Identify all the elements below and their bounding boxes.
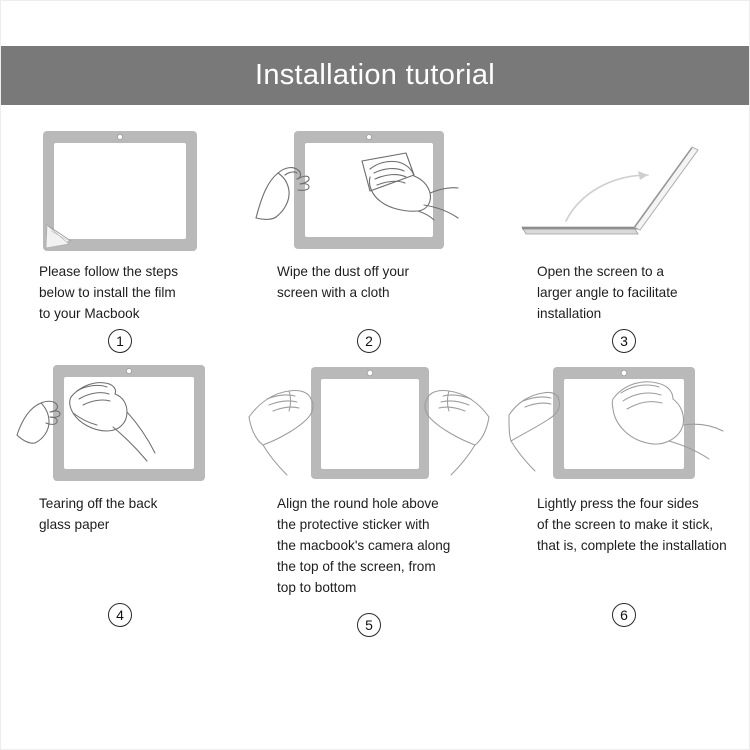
step-number-badge: 6 <box>612 603 636 627</box>
step-number-badge: 1 <box>108 329 132 353</box>
caption-line: installation <box>537 303 735 324</box>
caption-line: top to bottom <box>277 577 485 598</box>
step-5-illustration <box>249 353 489 493</box>
caption-line: the top of the screen, from <box>277 556 485 577</box>
step-panel-5: Align the round hole above the protectiv… <box>239 353 499 637</box>
tutorial-page: Installation tutorial Please follow the … <box>0 0 750 750</box>
caption-line: Align the round hole above <box>277 493 485 514</box>
caption-line: of the screen to make it stick, <box>537 514 735 535</box>
step-3-illustration <box>509 119 739 261</box>
step-4-number-wrap: 4 <box>11 603 229 627</box>
page-title: Installation tutorial <box>255 61 495 90</box>
laptop-open-angle-arrow-icon <box>514 123 734 258</box>
step-panel-1: Please follow the steps below to install… <box>1 119 239 353</box>
caption-line: glass paper <box>39 514 225 535</box>
caption-line: that is, complete the installation <box>537 535 735 556</box>
step-panel-6: Lightly press the four sides of the scre… <box>499 353 749 637</box>
step-2-number-wrap: 2 <box>249 329 489 353</box>
caption-line: screen with a cloth <box>277 282 485 303</box>
step-4-illustration <box>11 353 229 493</box>
caption-line: larger angle to facilitate <box>537 282 735 303</box>
step-6-number-wrap: 6 <box>509 603 739 627</box>
steps-grid: Please follow the steps below to install… <box>1 119 749 637</box>
caption-line: the macbook's camera along <box>277 535 485 556</box>
step-3-caption: Open the screen to a larger angle to fac… <box>509 261 739 327</box>
caption-line: to your Macbook <box>39 303 225 324</box>
step-6-caption: Lightly press the four sides of the scre… <box>509 493 739 563</box>
step-panel-2: Wipe the dust off your screen with a clo… <box>239 119 499 353</box>
step-4-caption: Tearing off the back glass paper <box>11 493 229 545</box>
header-band: Installation tutorial <box>1 46 749 105</box>
step-number-badge: 4 <box>108 603 132 627</box>
step-3-number-wrap: 3 <box>509 329 739 353</box>
step-5-number-wrap: 5 <box>249 613 489 637</box>
step-2-caption: Wipe the dust off your screen with a clo… <box>249 261 489 327</box>
step-1-caption: Please follow the steps below to install… <box>11 261 229 327</box>
two-hands-aligning-film-icon <box>249 357 489 489</box>
hands-tearing-backing-paper-icon <box>15 357 225 489</box>
step-5-caption: Align the round hole above the protectiv… <box>249 493 489 603</box>
caption-line: Wipe the dust off your <box>277 261 485 282</box>
hand-pressing-screen-sides-icon <box>509 357 739 489</box>
caption-line: below to install the film <box>39 282 225 303</box>
step-2-illustration <box>249 119 489 261</box>
caption-line: Tearing off the back <box>39 493 225 514</box>
step-panel-3: Open the screen to a larger angle to fac… <box>499 119 749 353</box>
caption-line: the protective sticker with <box>277 514 485 535</box>
step-number-badge: 2 <box>357 329 381 353</box>
step-number-badge: 3 <box>612 329 636 353</box>
step-number-badge: 5 <box>357 613 381 637</box>
caption-line: Please follow the steps <box>39 261 225 282</box>
step-1-number-wrap: 1 <box>11 329 229 353</box>
caption-line: Open the screen to a <box>537 261 735 282</box>
hand-wiping-screen-with-cloth-icon <box>254 123 484 258</box>
macbook-screen-with-peeling-film-icon <box>25 123 215 258</box>
step-6-illustration <box>509 353 739 493</box>
step-1-illustration <box>11 119 229 261</box>
step-panel-4: Tearing off the back glass paper 4 <box>1 353 239 637</box>
caption-line: Lightly press the four sides <box>537 493 735 514</box>
